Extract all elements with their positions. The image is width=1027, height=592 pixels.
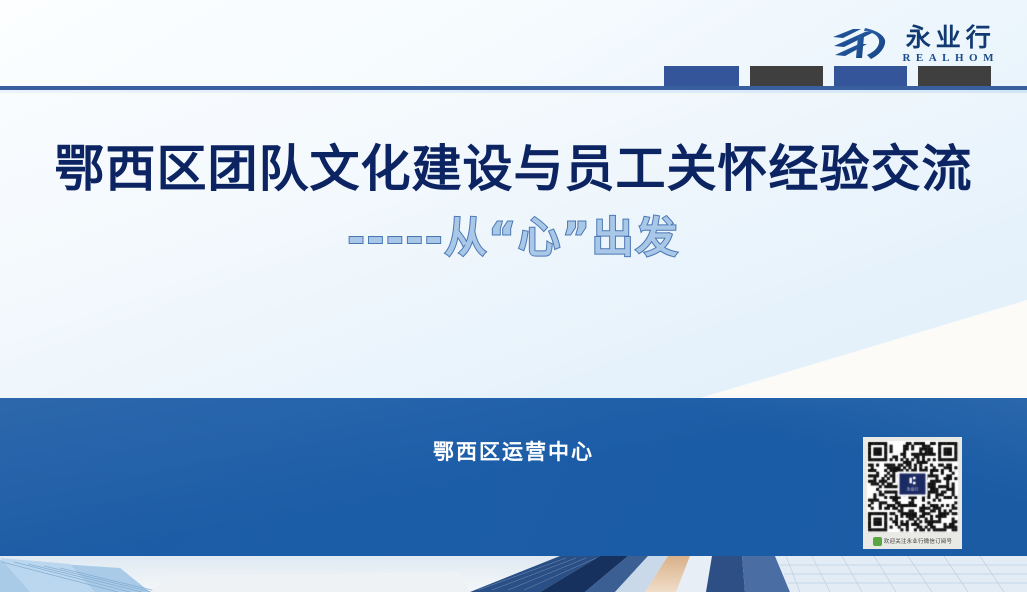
page-subtitle: -----从“心”出发 [0,215,1027,261]
presentation-slide: 永业行 REALHOM 鄂西区团队文化建设与员工关怀经验交流 -----从“心”… [0,0,1027,592]
qr-code-block[interactable]: 欢迎关注永业行微信订阅号 [863,437,962,549]
logo-chinese-name: 永业行 [901,25,996,50]
yh-monogram-icon [831,24,887,64]
diagonal-wedge-decoration [697,300,1027,399]
logo-english-name: REALHOM [897,53,999,64]
company-logo: 永业行 REALHOM [831,24,999,64]
header-divider-shadow [0,90,1027,93]
chip-blue-1 [664,66,739,87]
qr-caption-bar: 欢迎关注永业行微信订阅号 [863,533,962,549]
chip-dark-2 [918,66,991,87]
page-title: 鄂西区团队文化建设与员工关怀经验交流 [0,142,1027,196]
header-color-chips [0,66,1027,87]
wechat-badge-icon [873,537,882,546]
logo-wordmark: 永业行 REALHOM [897,25,999,64]
qr-code-icon[interactable] [863,437,962,533]
skyscraper-facade-photo [0,556,1027,592]
qr-caption-text: 欢迎关注永业行微信订阅号 [884,537,952,545]
chip-blue-2 [834,66,907,87]
chip-dark-1 [750,66,823,87]
